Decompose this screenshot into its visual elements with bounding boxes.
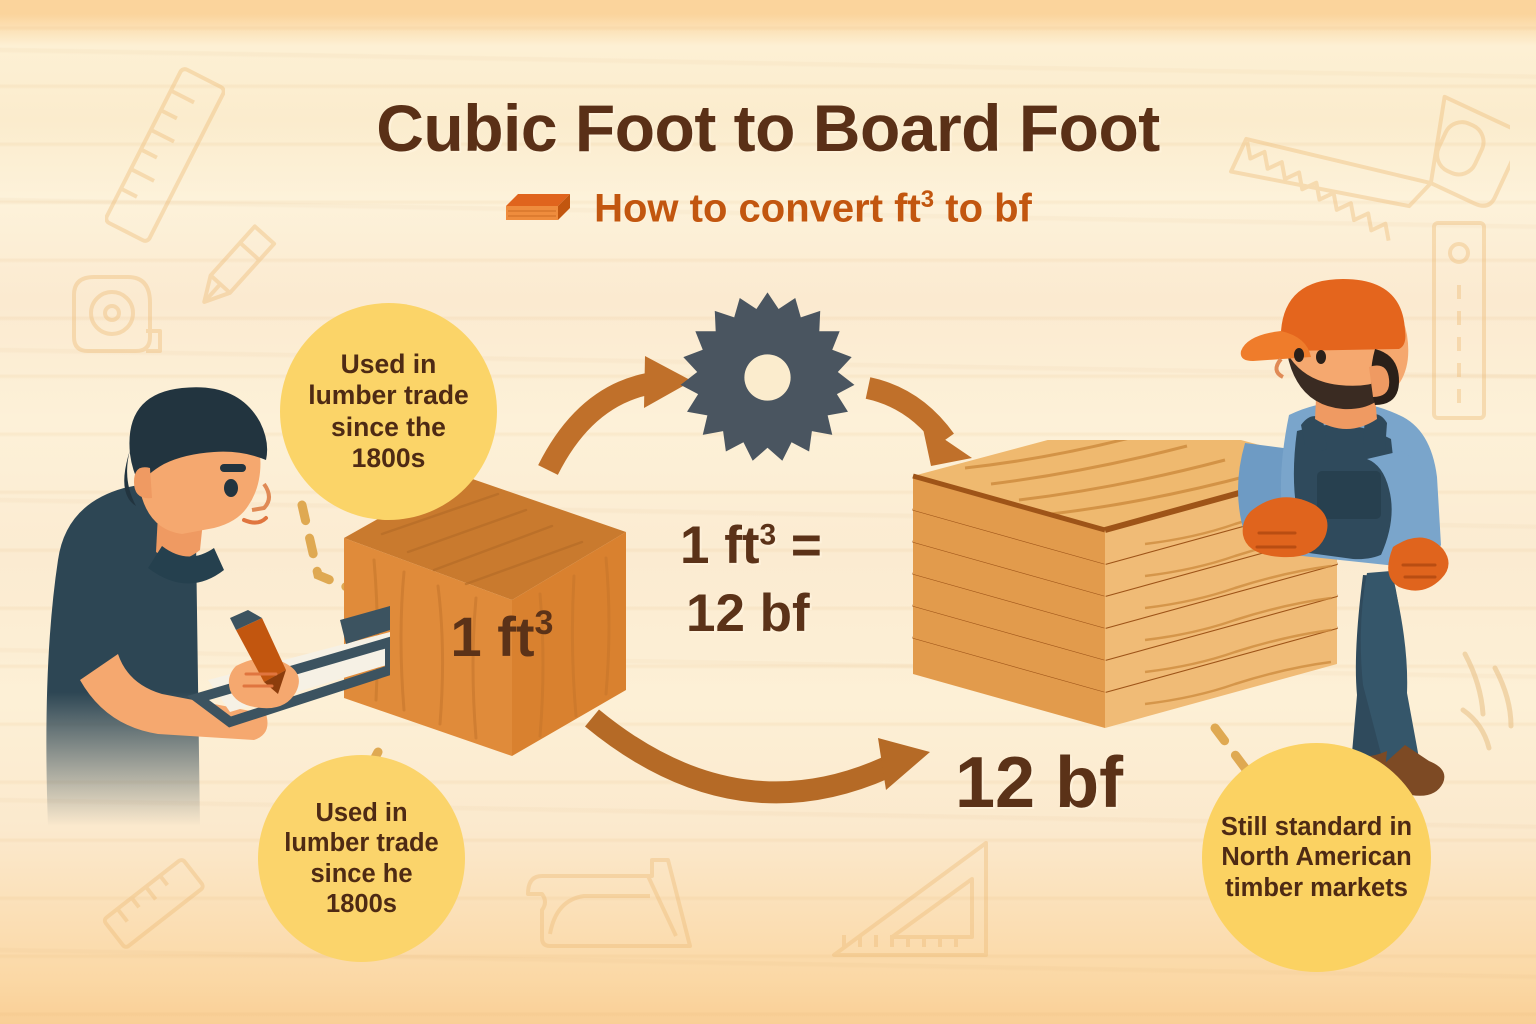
cube-label-exponent: 3	[535, 604, 554, 642]
equation-line-1: 1 ft3 =	[680, 512, 900, 580]
page-title: Cubic Foot to Board Foot	[0, 90, 1536, 166]
callout-text: Used in lumber trade since the 1800s	[294, 349, 483, 474]
equation-value-1: 1 ft	[680, 516, 760, 575]
board-feet-label: 12 bf	[955, 742, 1123, 824]
equation-exponent: 3	[760, 518, 777, 551]
callout-text: Used in lumber trade since he 1800s	[272, 798, 451, 918]
tape-measure-icon	[60, 265, 170, 365]
equation-equals: =	[776, 516, 822, 575]
callout-bubble-bottom-left[interactable]: Used in lumber trade since he 1800s	[258, 755, 465, 962]
callout-bubble-right[interactable]: Still standard in North American timber …	[1202, 743, 1431, 972]
ruler-small-icon	[95, 845, 215, 965]
circular-saw-blade-icon	[675, 285, 860, 470]
callout-text: Still standard in North American timber …	[1216, 812, 1417, 902]
curved-arrow-top-icon	[548, 356, 692, 470]
worker-carrying-lumber	[1225, 275, 1505, 820]
hand-plane-icon	[520, 840, 710, 970]
conversion-equation: 1 ft3 = 12 bf	[680, 512, 900, 648]
curved-arrow-bottom-icon	[592, 718, 930, 792]
subtitle-row: How to convert ft3 to bf	[0, 186, 1536, 232]
equation-line-2: 12 bf	[686, 580, 900, 648]
subtitle-post: to bf	[934, 187, 1032, 231]
subtitle-pre: How to convert ft	[594, 187, 921, 231]
infographic-canvas: Cubic Foot to Board Foot How to convert …	[0, 0, 1536, 1024]
set-square-icon	[820, 835, 1020, 965]
subtitle: How to convert ft3 to bf	[594, 186, 1032, 231]
callout-bubble-top-left[interactable]: Used in lumber trade since the 1800s	[280, 303, 497, 520]
wood-plank-icon	[504, 186, 576, 232]
subtitle-exponent: 3	[921, 186, 934, 213]
